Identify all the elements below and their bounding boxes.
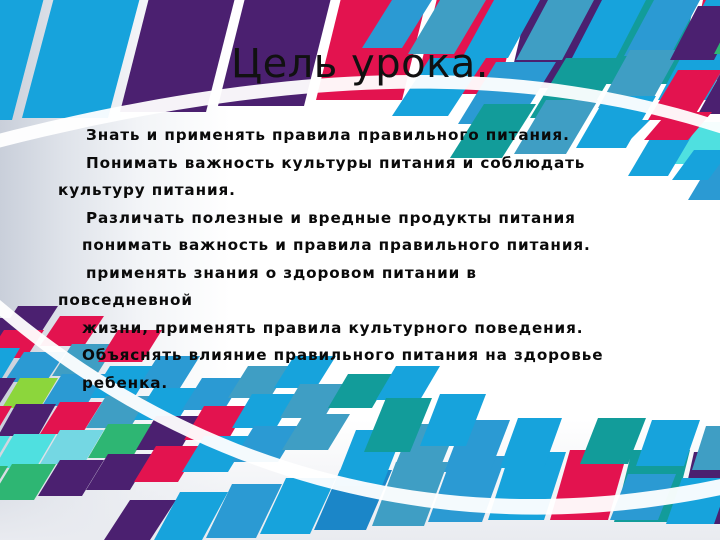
body-text-block: Знать и применять правила правильного пи… <box>58 122 678 397</box>
page-title: Цель урока. <box>0 42 720 86</box>
body-line: Знать и применять правила правильного пи… <box>58 122 678 150</box>
body-line: Понимать важность культуры питания и соб… <box>58 150 678 178</box>
body-line: жизни, применять правила культурного пов… <box>58 315 678 343</box>
body-line: Объяснять влияние правильного питания на… <box>58 342 678 370</box>
slide-canvas: Цель урока. Знать и применять правила пр… <box>0 0 720 540</box>
body-line: ребенка. <box>58 370 678 398</box>
body-line: Различать полезные и вредные продукты пи… <box>58 205 678 233</box>
body-line: применять знания о здоровом питании в <box>58 260 678 288</box>
body-line: понимать важность и правила правильного … <box>58 232 678 260</box>
body-line: повседневной <box>58 287 678 315</box>
slide-content: Цель урока. Знать и применять правила пр… <box>0 0 720 540</box>
body-line: культуру питания. <box>58 177 678 205</box>
